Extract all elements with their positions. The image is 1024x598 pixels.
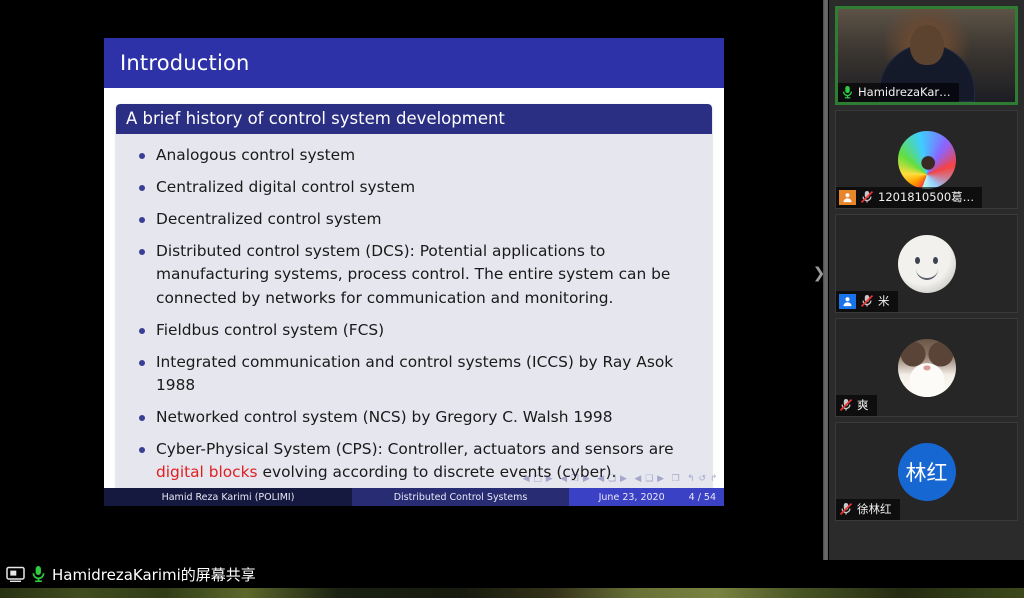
cohost-badge-icon bbox=[839, 294, 856, 309]
list-item: Decentralized control system bbox=[130, 208, 698, 231]
nav-symbol-section[interactable]: ◀ ❑ ▶ bbox=[634, 474, 664, 484]
participant-name: 米 bbox=[878, 293, 890, 309]
participant-name: 爽 bbox=[857, 397, 869, 413]
nav-symbol-presentation[interactable]: ❒ bbox=[672, 474, 681, 484]
participant-tile[interactable]: 林红 徐林红 bbox=[835, 422, 1018, 521]
list-item-text: Cyber-Physical System (CPS): Controller,… bbox=[156, 440, 674, 458]
avatar-image bbox=[898, 339, 956, 397]
participant-name: HamidrezaKar… bbox=[858, 85, 951, 99]
avatar-image bbox=[898, 131, 956, 189]
list-item-text: Centralized digital control system bbox=[156, 178, 415, 196]
panel-divider[interactable] bbox=[823, 0, 828, 560]
footer-author: Hamid Reza Karimi (POLIMI) bbox=[104, 488, 352, 506]
presentation-slide: Introduction A brief history of control … bbox=[104, 38, 724, 506]
mic-muted-icon bbox=[860, 190, 874, 204]
footer-date: June 23, 2020 bbox=[599, 492, 665, 503]
participant-name-bar: 米 bbox=[836, 291, 898, 312]
avatar bbox=[898, 235, 956, 293]
avatar-smile bbox=[916, 266, 938, 280]
screen-share-status-bar: HamidrezaKarimi的屏幕共享 bbox=[0, 560, 1024, 588]
list-item: Integrated communication and control sys… bbox=[130, 351, 698, 397]
nav-symbol-frame[interactable]: ◀ ❐ ▶ bbox=[560, 474, 590, 484]
slide-footer: Hamid Reza Karimi (POLIMI) Distributed C… bbox=[104, 488, 724, 506]
list-item-text: Integrated communication and control sys… bbox=[156, 353, 673, 394]
list-item-text: Distributed control system (DCS): Potent… bbox=[156, 242, 670, 306]
slide-title-bar: Introduction bbox=[104, 38, 724, 88]
footer-meta: June 23, 2020 4 / 54 bbox=[569, 488, 724, 506]
slide-body: A brief history of control system develo… bbox=[104, 88, 724, 506]
avatar bbox=[898, 131, 956, 189]
mic-muted-icon bbox=[839, 398, 853, 412]
list-item-text: Analogous control system bbox=[156, 146, 355, 164]
participant-tile[interactable]: 1201810500葛… bbox=[835, 110, 1018, 209]
content-block: A brief history of control system develo… bbox=[116, 104, 712, 500]
block-body: Analogous control system Centralized dig… bbox=[116, 134, 712, 500]
slide-title: Introduction bbox=[120, 51, 250, 75]
nav-symbol-back-find-forward[interactable]: ↰ ↺ ↱ bbox=[687, 474, 718, 484]
participant-name-bar: 爽 bbox=[836, 395, 877, 416]
meeting-screen-share-view: Introduction A brief history of control … bbox=[0, 0, 1024, 598]
participant-name-bar: 1201810500葛… bbox=[836, 187, 982, 208]
cat-nose bbox=[923, 365, 930, 370]
avatar-initials: 林红 bbox=[898, 443, 956, 501]
avatar bbox=[898, 339, 956, 397]
block-header: A brief history of control system develo… bbox=[116, 104, 712, 134]
list-item: Fieldbus control system (FCS) bbox=[130, 319, 698, 342]
share-status-label: HamidrezaKarimi的屏幕共享 bbox=[52, 564, 256, 585]
host-badge-icon bbox=[839, 190, 856, 205]
participant-tile[interactable]: 米 bbox=[835, 214, 1018, 313]
mic-on-icon bbox=[841, 85, 854, 99]
nav-symbol-slide[interactable]: ◀ □ ▶ bbox=[523, 474, 554, 484]
avatar: 林红 bbox=[898, 443, 956, 501]
mic-muted-icon bbox=[839, 502, 853, 516]
participant-roster: HamidrezaKar… 1201810500葛… bbox=[829, 0, 1024, 560]
list-item-text: Networked control system (NCS) by Gregor… bbox=[156, 408, 613, 426]
list-item: Analogous control system bbox=[130, 144, 698, 167]
participant-name-bar: 徐林红 bbox=[836, 499, 900, 520]
avatar-image bbox=[898, 235, 956, 293]
participant-name: 徐林红 bbox=[857, 501, 892, 517]
list-item: Centralized digital control system bbox=[130, 176, 698, 199]
bullet-list: Analogous control system Centralized dig… bbox=[130, 144, 698, 484]
list-item: Distributed control system (DCS): Potent… bbox=[130, 240, 698, 309]
list-item-text: Decentralized control system bbox=[156, 210, 381, 228]
beamer-navigation-symbols[interactable]: ◀ □ ▶ ◀ ❐ ▶ ◀ ❏ ▶ ◀ ❑ ▶ ❒ ↰ ↺ ↱ bbox=[523, 474, 718, 484]
participant-name: 1201810500葛… bbox=[878, 189, 974, 205]
screen-share-icon bbox=[6, 566, 25, 583]
mic-on-icon bbox=[31, 565, 46, 583]
list-item-text: Fieldbus control system (FCS) bbox=[156, 321, 384, 339]
person-head bbox=[910, 25, 944, 65]
mic-muted-icon bbox=[860, 294, 874, 308]
footer-page-number: 4 / 54 bbox=[689, 492, 716, 503]
footer-subject: Distributed Control Systems bbox=[352, 488, 569, 506]
list-item: Networked control system (NCS) by Gregor… bbox=[130, 406, 698, 429]
shared-screen-area: Introduction A brief history of control … bbox=[0, 0, 828, 560]
participant-tile[interactable]: HamidrezaKar… bbox=[835, 6, 1018, 105]
nav-symbol-subsection[interactable]: ◀ ❏ ▶ bbox=[597, 474, 627, 484]
background-video-strip bbox=[0, 588, 1024, 598]
participant-tile[interactable]: 爽 bbox=[835, 318, 1018, 417]
participant-name-bar: HamidrezaKar… bbox=[838, 83, 959, 102]
highlighted-text: digital blocks bbox=[156, 463, 258, 481]
